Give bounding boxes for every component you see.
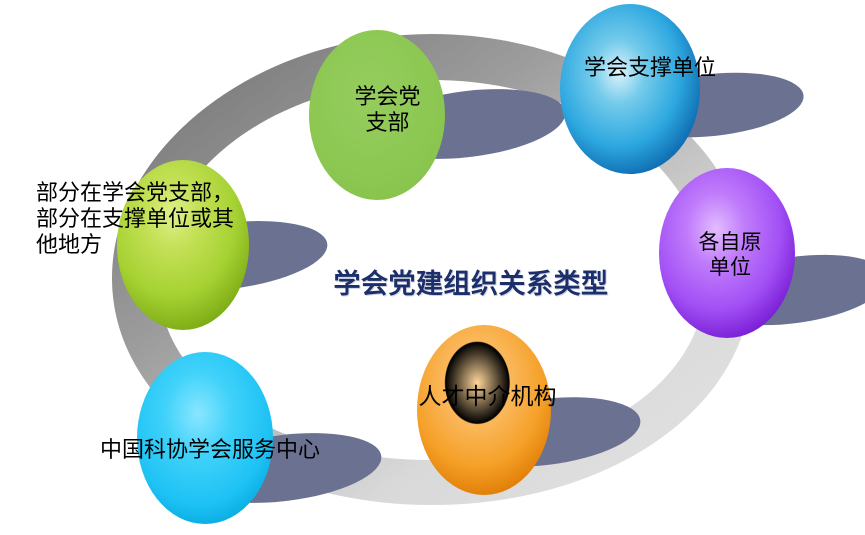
diagram-canvas: 学会党 支部 学会支撑单位 各自原 单位 人才中介机构 中国科协学会服务中心 部… bbox=[0, 0, 865, 535]
node-orange-text: 人才中介机构 bbox=[419, 383, 557, 410]
node-purple-text: 各自原 单位 bbox=[699, 230, 762, 280]
node-left-green-text: 部分在学会党支部，部分在支撑单位或其他地方 bbox=[36, 180, 246, 258]
node-green-top-text: 学会党 支部 bbox=[354, 84, 420, 136]
node-blue-top-text: 学会支撑单位 bbox=[584, 55, 716, 81]
node-label-blue-top[interactable]: 学会支撑单位 bbox=[535, 55, 765, 81]
diagram-center-title: 学会党建组织关系类型 bbox=[298, 262, 644, 301]
node-blue-top-sphere bbox=[560, 4, 700, 174]
node-label-green-top[interactable]: 学会党 支部 bbox=[300, 84, 475, 136]
node-label-cyan[interactable]: 中国科协学会服务中心 bbox=[60, 437, 360, 463]
node-label-orange[interactable]: 人才中介机构 bbox=[380, 383, 595, 410]
node-cyan-text: 中国科协学会服务中心 bbox=[100, 437, 320, 463]
node-label-left-green[interactable]: 部分在学会党支部，部分在支撑单位或其他地方 bbox=[36, 180, 246, 258]
node-label-purple[interactable]: 各自原 单位 bbox=[655, 230, 805, 280]
